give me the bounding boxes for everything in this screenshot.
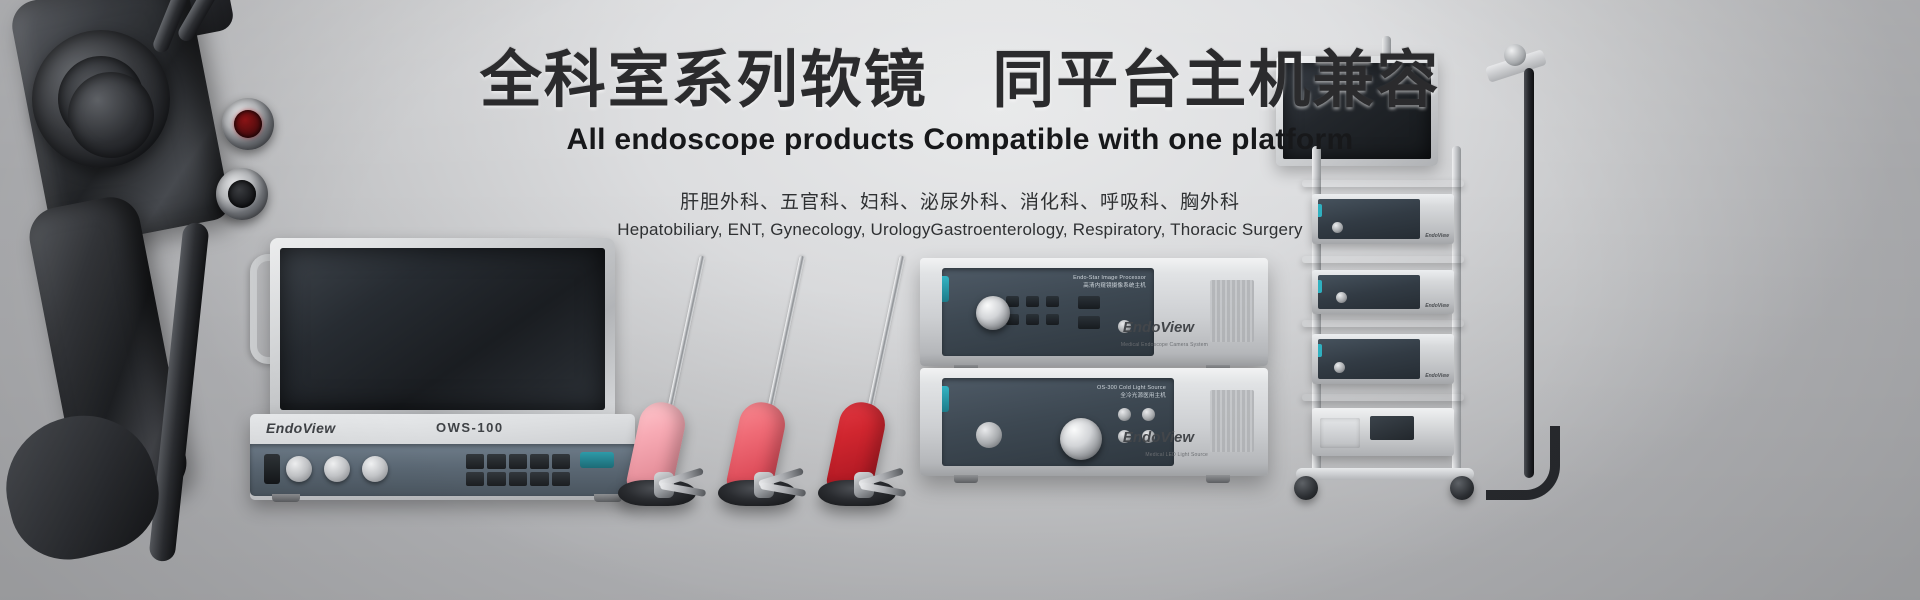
- processor-button-7: [1078, 296, 1100, 309]
- cart-unit-panel: [1318, 275, 1420, 309]
- cart-unit-brand: EndoView: [1425, 303, 1449, 309]
- cart-shelf-4: [1302, 394, 1464, 401]
- workstation-knob-1: [286, 456, 312, 482]
- cart-unit-panel: [1318, 339, 1420, 379]
- processor-button-2: [1026, 296, 1039, 307]
- cart-unit-brand: EndoView: [1425, 373, 1449, 379]
- page-subtitle: All endoscope products Compatible with o…: [0, 123, 1920, 157]
- cart-shelf-2: [1302, 256, 1464, 263]
- processor-title-text: Endo-Star Image Processor 高清内窥镜摄像系统主机: [1073, 274, 1146, 291]
- light-source-button-3: [1142, 408, 1155, 421]
- cart-caster-right: [1450, 476, 1474, 500]
- rigid-instrument-red: [800, 252, 950, 502]
- cart-printer-display: [1370, 416, 1414, 440]
- cart-shelf-3: [1302, 320, 1464, 327]
- processor-vent: [1210, 280, 1254, 342]
- endoscopy-workstation: EndoView OWS-100: [228, 238, 648, 500]
- light-source-power-button: [976, 422, 1002, 448]
- departments-chinese: 肝胆外科、五官科、妇科、泌尿外科、消化科、呼吸科、胸外科: [0, 187, 1920, 214]
- processor-button-3: [1046, 296, 1059, 307]
- processor-title-cn: 高清内窥镜摄像系统主机: [1083, 283, 1146, 289]
- light-source-title-en: OS-300 Cold Light Source: [1097, 385, 1166, 391]
- promo-banner: EndoView OWS-100: [0, 0, 1920, 600]
- workstation-knob-2: [324, 456, 350, 482]
- light-source-vent: [1210, 390, 1254, 452]
- headline-part-1: 全科室系列软镜: [480, 46, 928, 115]
- processor-subtitle: Medical Endoscope Camera System: [1121, 342, 1208, 348]
- departments-english: Hepatobiliary, ENT, Gynecology, UrologyG…: [0, 220, 1920, 240]
- workstation-foot-left: [272, 494, 300, 502]
- cart-unit-auxiliary: EndoView: [1312, 334, 1454, 384]
- light-source-title-text: OS-300 Cold Light Source 全冷光源医用主机: [1097, 384, 1166, 401]
- cart-unit-knob: [1336, 292, 1347, 303]
- light-source-brand-label: EndoView: [1123, 429, 1194, 446]
- instrument-jaw-assembly: [858, 470, 916, 504]
- workstation-knob-3: [362, 456, 388, 482]
- processor-title-en: Endo-Star Image Processor: [1073, 275, 1146, 281]
- workstation-model-label: OWS-100: [436, 420, 504, 435]
- processor-button-6: [1046, 314, 1059, 325]
- cart-unit-light-source: EndoView: [1312, 270, 1454, 314]
- led-light-source: OS-300 Cold Light Source 全冷光源医用主机 EndoVi…: [920, 368, 1268, 476]
- workstation-button-grid: [466, 454, 570, 486]
- processor-button-5: [1026, 314, 1039, 325]
- cart-caster-left: [1294, 476, 1318, 500]
- workstation-display-screen: [280, 248, 605, 410]
- camera-image-processor: Endo-Star Image Processor 高清内窥镜摄像系统主机 En…: [920, 258, 1268, 366]
- light-source-subtitle: Medical LED Light Source: [1145, 452, 1208, 458]
- light-source-foot-right: [1206, 475, 1230, 483]
- processor-button-8: [1078, 316, 1100, 329]
- workstation-monitor-bezel: [270, 238, 615, 420]
- headline-part-2: 同平台主机兼容: [992, 46, 1440, 115]
- workstation-port: [264, 454, 280, 484]
- light-source-brightness-knob: [1060, 418, 1102, 460]
- banner-text-block: 全科室系列软镜 同平台主机兼容 All endoscope products C…: [0, 48, 1920, 240]
- processor-main-knob: [976, 296, 1010, 330]
- page-title: 全科室系列软镜 同平台主机兼容: [0, 48, 1920, 115]
- cart-printer-unit: [1312, 408, 1454, 456]
- light-source-title-cn: 全冷光源医用主机: [1120, 393, 1166, 399]
- processor-brand-label: EndoView: [1123, 319, 1194, 336]
- workstation-brand-label: EndoView: [266, 420, 336, 436]
- cart-endoscope-cord-bend: [1486, 426, 1560, 500]
- cart-printer-tray: [1320, 418, 1360, 448]
- light-source-foot-left: [954, 475, 978, 483]
- light-source-button-1: [1118, 408, 1131, 421]
- light-source-front-panel: OS-300 Cold Light Source 全冷光源医用主机: [942, 378, 1174, 466]
- cart-base-frame: [1296, 468, 1474, 480]
- cart-unit-knob: [1334, 362, 1345, 373]
